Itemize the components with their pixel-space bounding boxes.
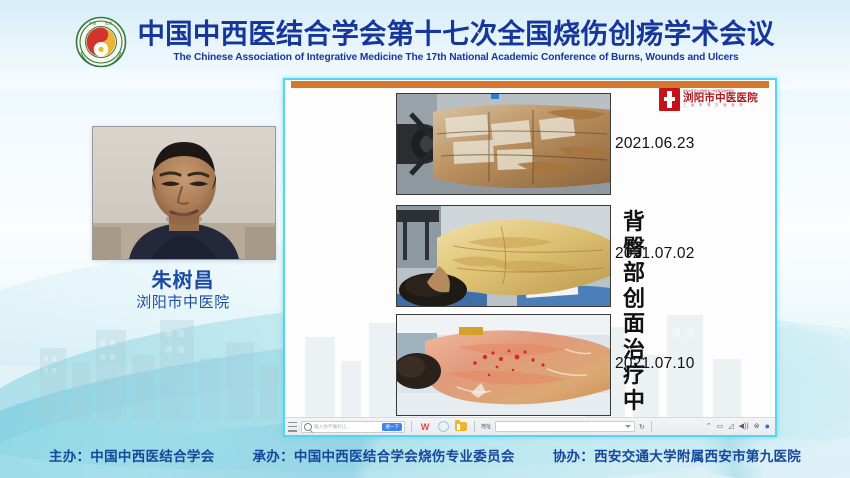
vtitle-char-0: 背 (619, 210, 649, 236)
battery-icon[interactable]: ▭ (717, 423, 724, 430)
system-tray[interactable]: ⌃ ▭ ◿ ◀)) ⊗ ● (706, 422, 772, 431)
conference-title-cn: 中国中西医结合学会第十七次全国烧伤创疡学术会议 (137, 19, 774, 50)
address-bar-label: 地址 (481, 423, 491, 430)
footer-undertaker: 承办：中国中西医结合学会烧伤专业委员会 (253, 445, 515, 465)
screenshot-root: 中西 结合 中国中西医结合学会第十七次全国烧伤创疡学术会议 The Chines… (0, 0, 850, 478)
hospital-logo: 湖南中医药大学附属第二中医医院协作医院 浏阳市中医医院 三 级 甲 等 中 医 … (659, 86, 767, 112)
search-icon (304, 423, 312, 431)
taskbar-divider-1 (411, 421, 412, 432)
taskbar-search-box[interactable]: 输入你不懂的让... 搜一下 (301, 421, 405, 433)
vtitle-char-3: 创 (619, 287, 649, 313)
clinical-photo-2 (396, 205, 611, 307)
footer-coorganizer: 协办：西安交通大学附属西安市第九医院 (553, 445, 801, 465)
close-circle-icon[interactable]: ⊗ (754, 423, 760, 430)
svg-text:结合: 结合 (105, 21, 113, 26)
search-submit-button[interactable]: 搜一下 (382, 423, 402, 431)
speaker-webcam-image (93, 127, 275, 259)
speaker-video-tile[interactable] (92, 126, 276, 260)
volume-icon[interactable]: ◀)) (739, 423, 749, 430)
footer-organizer: 主办：中国中西医结合学会 (49, 445, 215, 465)
svg-text:中西: 中西 (89, 21, 97, 26)
start-menu-icon[interactable] (288, 422, 297, 432)
address-bar-input[interactable] (495, 421, 635, 432)
notification-icon[interactable]: ● (765, 422, 770, 431)
tray-expand-icon[interactable]: ⌃ (706, 423, 712, 430)
vtitle-char-4: 面 (619, 312, 649, 338)
photo-date-1: 2021.06.23 (615, 135, 695, 153)
refresh-icon[interactable]: ↻ (639, 423, 645, 431)
shared-screen-region[interactable]: 湖南中医药大学附属第二中医医院协作医院 浏阳市中医医院 三 级 甲 等 中 医 … (283, 78, 777, 437)
vtitle-char-7: 中 (619, 389, 649, 415)
slide-vertical-title: 背 臀 部 创 面 治 疗 中 (619, 210, 649, 414)
hospital-cross-icon (659, 88, 680, 111)
clinical-photo-3 (396, 314, 611, 416)
conference-header: 中西 结合 中国中西医结合学会第十七次全国烧伤创疡学术会议 The Chines… (0, 0, 850, 82)
photo-date-2: 2021.07.02 (615, 245, 695, 263)
search-placeholder: 输入你不懂的让... (314, 424, 380, 430)
association-emblem-icon: 中西 结合 (75, 16, 127, 68)
clinical-photo-1 (396, 93, 611, 195)
header-title-block: 中国中西医结合学会第十七次全国烧伤创疡学术会议 The Chinese Asso… (137, 19, 774, 63)
taskbar-divider-3 (651, 421, 652, 432)
wifi-icon[interactable]: ◿ (728, 423, 733, 430)
chevron-down-icon[interactable] (625, 425, 631, 428)
presentation-slide: 湖南中医药大学附属第二中医医院协作医院 浏阳市中医医院 三 级 甲 等 中 医 … (285, 80, 775, 417)
vtitle-char-2: 部 (619, 261, 649, 287)
conference-title-en: The Chinese Association of Integrative M… (173, 52, 738, 63)
taskbar-divider-2 (474, 421, 475, 432)
conference-footer: 主办：中国中西医结合学会 承办：中国中西医结合学会烧伤专业委员会 协办：西安交通… (0, 432, 850, 478)
hospital-logo-grade: 三 级 甲 等 中 医 医 院 (683, 104, 758, 107)
photo-date-3: 2021.07.10 (615, 355, 695, 373)
